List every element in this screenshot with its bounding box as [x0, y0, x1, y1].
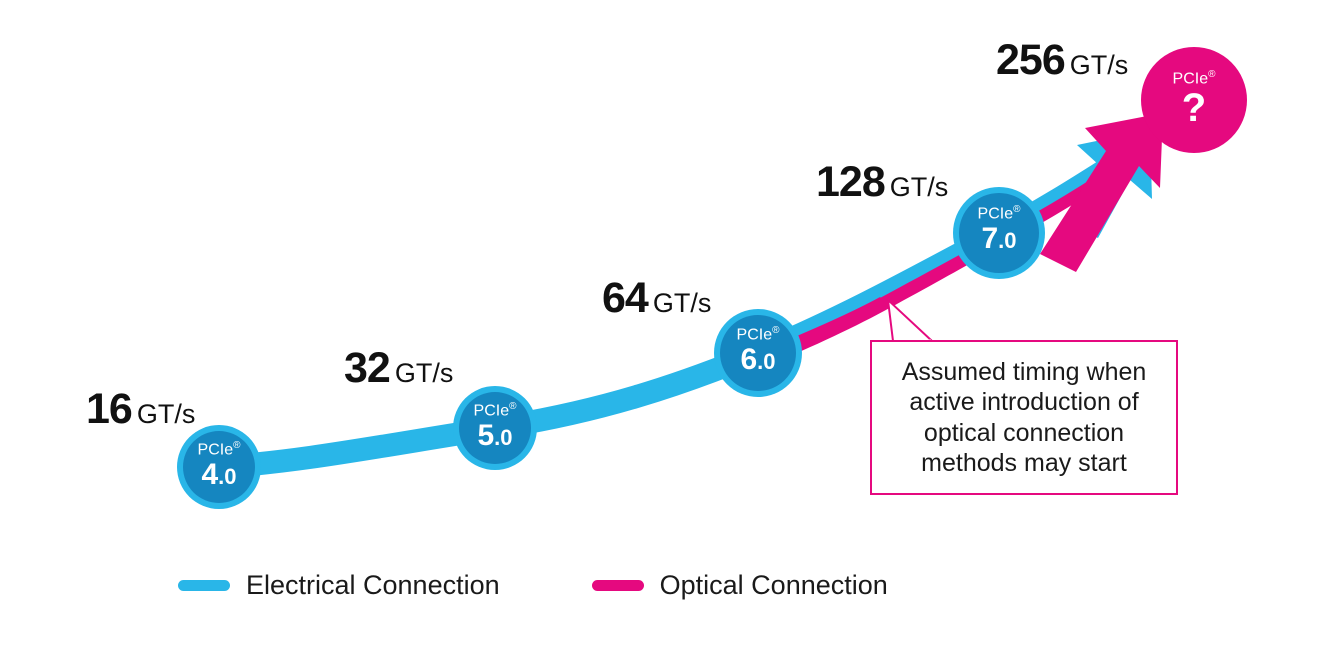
legend-swatch-electrical-icon: [178, 580, 230, 591]
callout-text: Assumed timing when active introduction …: [888, 357, 1161, 479]
speed-label-pcie-6: 64GT/s: [602, 277, 711, 320]
node-pcie-4-disc[interactable]: [183, 431, 255, 503]
speed-number-pcie-4: 16: [86, 385, 132, 433]
node-pcie-future-disc[interactable]: [1141, 47, 1247, 153]
speed-label-pcie-future: 256GT/s: [996, 39, 1128, 82]
legend-label-electrical: Electrical Connection: [246, 570, 500, 601]
callout-line-4: methods may start: [921, 449, 1127, 477]
optical-timing-callout: Assumed timing when active introduction …: [870, 340, 1178, 495]
speed-unit-pcie-future: GT/s: [1070, 50, 1129, 80]
speed-number-pcie-future: 256: [996, 36, 1065, 84]
node-pcie-7-disc[interactable]: [959, 193, 1039, 273]
speed-unit-pcie-7: GT/s: [890, 172, 949, 202]
roadmap-curve-graphic: [0, 0, 1320, 660]
speed-label-pcie-4: 16GT/s: [86, 388, 195, 431]
callout-line-1: Assumed timing when: [902, 358, 1147, 386]
speed-number-pcie-6: 64: [602, 274, 648, 322]
pcie-roadmap-diagram: 16GT/s 32GT/s 64GT/s 128GT/s 256GT/s PCI…: [0, 0, 1320, 660]
legend-label-optical: Optical Connection: [660, 570, 888, 601]
legend-swatch-optical-icon: [592, 580, 644, 591]
speed-number-pcie-7: 128: [816, 158, 885, 206]
legend-item-electrical[interactable]: Electrical Connection: [178, 570, 500, 601]
callout-pointer: [888, 300, 932, 341]
speed-label-pcie-7: 128GT/s: [816, 161, 948, 204]
speed-unit-pcie-5: GT/s: [395, 358, 454, 388]
node-pcie-5-disc[interactable]: [459, 392, 531, 464]
legend: Electrical Connection Optical Connection: [178, 570, 888, 601]
callout-line-2: active introduction of: [909, 388, 1138, 416]
speed-number-pcie-5: 32: [344, 344, 390, 392]
speed-unit-pcie-4: GT/s: [137, 399, 196, 429]
legend-item-optical[interactable]: Optical Connection: [592, 570, 888, 601]
callout-line-3: optical connection: [924, 419, 1124, 447]
speed-label-pcie-5: 32GT/s: [344, 347, 453, 390]
node-pcie-6-disc[interactable]: [720, 315, 796, 391]
speed-unit-pcie-6: GT/s: [653, 288, 712, 318]
